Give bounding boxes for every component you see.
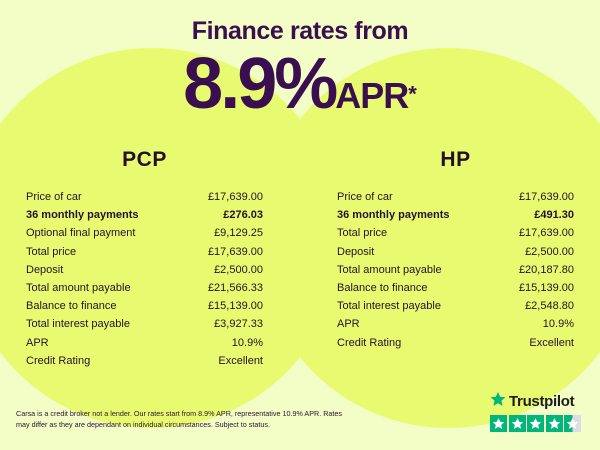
headline: Finance rates from [0,17,600,46]
row-label: Credit Rating [337,337,401,349]
star-icon [527,415,544,432]
row-label: Price of car [26,191,82,203]
table-row: Total amount payable £20,187.80 [337,261,574,279]
table-row: 36 monthly payments £276.03 [26,206,263,224]
row-label: Balance to finance [337,282,428,294]
row-value: £2,500.00 [525,246,574,258]
hp-column-title: HP [323,148,588,172]
poster-content: Finance rates from 8.9%APR* PCP Price of… [0,0,600,450]
table-row: Total price £17,639.00 [337,224,574,242]
row-value: Excellent [529,337,574,349]
table-row: Price of car £17,639.00 [337,188,574,206]
finance-comparison-columns: PCP Price of car £17,639.00 36 monthly p… [0,148,600,370]
row-value: £17,639.00 [519,191,574,203]
trustpilot-stars [490,415,588,432]
hp-rows: Price of car £17,639.00 36 monthly payme… [323,188,588,352]
table-row: Optional final payment £9,129.25 [26,224,263,242]
table-row: Deposit £2,500.00 [337,243,574,261]
table-row: APR 10.9% [337,315,574,333]
row-value: £15,139.00 [208,300,263,312]
table-row: Total amount payable £21,566.33 [26,279,263,297]
disclaimer-text: Carsa is a credit broker not a lender. O… [16,408,346,430]
row-value: £276.03 [223,209,263,221]
row-value: 10.9% [543,318,574,330]
table-row: Price of car £17,639.00 [26,188,263,206]
row-value: £491.30 [534,209,574,221]
row-value: 10.9% [232,337,263,349]
pcp-column: PCP Price of car £17,639.00 36 monthly p… [12,148,277,370]
row-label: 36 monthly payments [26,209,138,221]
row-label: Deposit [337,246,374,258]
table-row: 36 monthly payments £491.30 [337,206,574,224]
row-value: £2,548.80 [525,300,574,312]
row-label: Total interest payable [337,300,441,312]
row-label: Deposit [26,264,63,276]
table-row: APR 10.9% [26,334,263,352]
row-label: 36 monthly payments [337,209,449,221]
half-star-icon [564,415,581,432]
row-label: Total amount payable [26,282,131,294]
row-label: Optional final payment [26,227,135,239]
row-value: Excellent [218,355,263,367]
trustpilot-star-icon [490,391,506,412]
table-row: Total interest payable £2,548.80 [337,297,574,315]
row-label: Total interest payable [26,318,130,330]
row-label: APR [26,337,49,349]
row-value: £9,129.25 [214,227,263,239]
table-row: Total interest payable £3,927.33 [26,315,263,333]
pcp-column-title: PCP [12,148,277,172]
trustpilot-rating[interactable]: Trustpilot [490,391,588,432]
rate-asterisk: * [408,82,417,107]
finance-rates-poster: Finance rates from 8.9%APR* PCP Price of… [0,0,600,450]
star-icon [490,415,507,432]
row-label: Total amount payable [337,264,442,276]
row-label: Total price [26,246,76,258]
row-value: £15,139.00 [519,282,574,294]
table-row: Total price £17,639.00 [26,243,263,261]
row-value: £20,187.80 [519,264,574,276]
row-value: £3,927.33 [214,318,263,330]
rate-value: 8.9% [183,44,335,124]
row-label: Total price [337,227,387,239]
table-row: Credit Rating Excellent [26,352,263,370]
row-value: £17,639.00 [519,227,574,239]
rate-unit: APR [335,75,408,116]
row-value: £17,639.00 [208,191,263,203]
rate-display: 8.9%APR* [0,48,600,120]
row-label: Balance to finance [26,300,117,312]
row-label: APR [337,318,360,330]
table-row: Credit Rating Excellent [337,334,574,352]
trustpilot-brand: Trustpilot [490,391,588,412]
table-row: Deposit £2,500.00 [26,261,263,279]
row-label: Price of car [337,191,393,203]
row-value: £17,639.00 [208,246,263,258]
table-row: Balance to finance £15,139.00 [26,297,263,315]
trustpilot-wordmark: Trustpilot [509,393,574,410]
hp-column: HP Price of car £17,639.00 36 monthly pa… [323,148,588,370]
row-label: Credit Rating [26,355,90,367]
star-icon [546,415,563,432]
table-row: Balance to finance £15,139.00 [337,279,574,297]
row-value: £21,566.33 [208,282,263,294]
star-icon [509,415,526,432]
row-value: £2,500.00 [214,264,263,276]
pcp-rows: Price of car £17,639.00 36 monthly payme… [12,188,277,370]
